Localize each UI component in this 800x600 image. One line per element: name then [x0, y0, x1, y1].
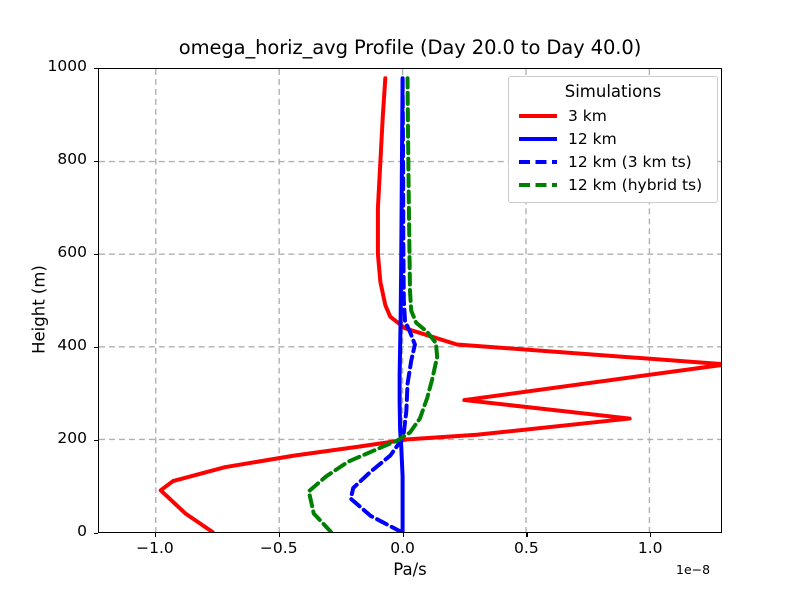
legend-item[interactable]: 12 km	[517, 127, 709, 150]
x-tick-label: 1.0	[615, 539, 685, 557]
x-tick-label: 0.0	[368, 539, 438, 557]
y-tick-label: 600	[17, 243, 87, 261]
legend-label: 12 km (3 km ts)	[568, 153, 692, 171]
legend-label: 12 km (hybrid ts)	[568, 176, 702, 194]
legend-swatch-icon	[517, 129, 559, 149]
x-tick-label: −1.0	[120, 539, 190, 557]
y-tick-label: 1000	[17, 57, 87, 75]
legend-item[interactable]: 12 km (3 km ts)	[517, 150, 709, 173]
x-tick-mark	[279, 533, 280, 537]
legend-swatch-icon	[517, 175, 559, 195]
y-tick-label: 200	[17, 429, 87, 447]
y-tick-label: 400	[17, 336, 87, 354]
x-tick-mark	[650, 533, 651, 537]
x-tick-mark	[403, 533, 404, 537]
x-axis-offset-exponent: 1e−8	[676, 562, 710, 577]
x-tick-label: −0.5	[244, 539, 314, 557]
x-tick-mark	[155, 533, 156, 537]
x-axis-label: Pa/s	[98, 560, 722, 579]
legend-swatch-icon	[517, 106, 559, 126]
legend-swatch-icon	[517, 152, 559, 172]
x-tick-label: 0.5	[491, 539, 561, 557]
legend-item[interactable]: 3 km	[517, 104, 709, 127]
y-tick-mark	[94, 533, 98, 534]
x-tick-mark	[526, 533, 527, 537]
y-tick-label: 0	[17, 522, 87, 540]
figure-canvas: omega_horiz_avg Profile (Day 20.0 to Day…	[0, 0, 800, 600]
legend-label: 3 km	[568, 107, 607, 125]
legend[interactable]: Simulations 3 km12 km12 km (3 km ts)12 k…	[508, 76, 718, 203]
series-line-3	[309, 78, 437, 532]
legend-label: 12 km	[568, 130, 617, 148]
legend-entries: 3 km12 km12 km (3 km ts)12 km (hybrid ts…	[517, 104, 709, 196]
legend-title: Simulations	[517, 81, 709, 104]
page-title: omega_horiz_avg Profile (Day 20.0 to Day…	[98, 36, 722, 59]
y-tick-label: 800	[17, 150, 87, 168]
legend-item[interactable]: 12 km (hybrid ts)	[517, 173, 709, 196]
